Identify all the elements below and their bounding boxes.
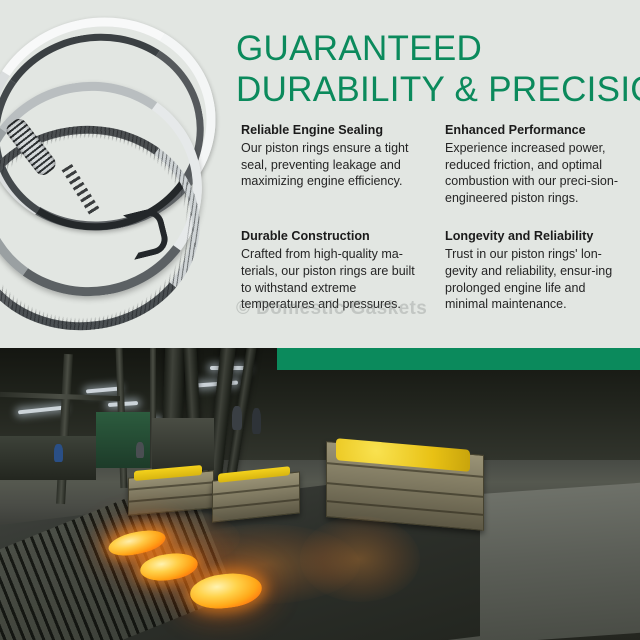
feature-body: Trust in our piston rings' lon-gevity an…	[445, 246, 627, 312]
feature-body: Crafted from high-quality ma-terials, ou…	[241, 246, 423, 312]
machinery-block-green	[96, 412, 150, 468]
feature-title: Longevity and Reliability	[445, 228, 635, 245]
feature-item-longevity-and-reliability: Longevity and Reliability Trust in our p…	[445, 228, 635, 312]
bin-slat	[327, 482, 483, 498]
foundry-photo: 15	[0, 348, 640, 640]
piston-rings-image	[0, 8, 232, 338]
feature-grid: Reliable Engine Sealing Our piston rings…	[241, 122, 635, 313]
headline-line-1: GUARANTEED	[236, 28, 632, 69]
feature-title: Enhanced Performance	[445, 122, 635, 139]
headline-line-2: DURABILITY & PRECISION	[236, 69, 632, 110]
crate-slat	[213, 498, 299, 509]
feature-title: Reliable Engine Sealing	[241, 122, 431, 139]
machinery-block	[0, 436, 96, 480]
machinery-block	[152, 418, 214, 470]
feature-body: Experience increased power, reduced fric…	[445, 140, 627, 206]
feature-item-reliable-engine-sealing: Reliable Engine Sealing Our piston rings…	[241, 122, 431, 206]
top-info-panel: GUARANTEED DURABILITY & PRECISION Reliab…	[0, 0, 640, 348]
feature-item-enhanced-performance: Enhanced Performance Experience increase…	[445, 122, 635, 206]
crate-slat	[129, 481, 213, 490]
green-accent-bar	[277, 348, 640, 370]
poster-canvas: GUARANTEED DURABILITY & PRECISION Reliab…	[0, 0, 640, 640]
worker-silhouette	[54, 444, 63, 462]
worker-silhouette	[232, 406, 242, 430]
feature-body: Our piston rings ensure a tight seal, pr…	[241, 140, 423, 190]
feature-title: Durable Construction	[241, 228, 431, 245]
feature-item-durable-construction: Durable Construction Crafted from high-q…	[241, 228, 431, 312]
crate-slat	[129, 493, 213, 502]
worker-silhouette	[252, 408, 261, 434]
bin-slat	[327, 500, 483, 516]
page-title: GUARANTEED DURABILITY & PRECISION	[236, 28, 632, 110]
crate-slat	[213, 484, 299, 495]
worker-silhouette	[136, 442, 144, 458]
